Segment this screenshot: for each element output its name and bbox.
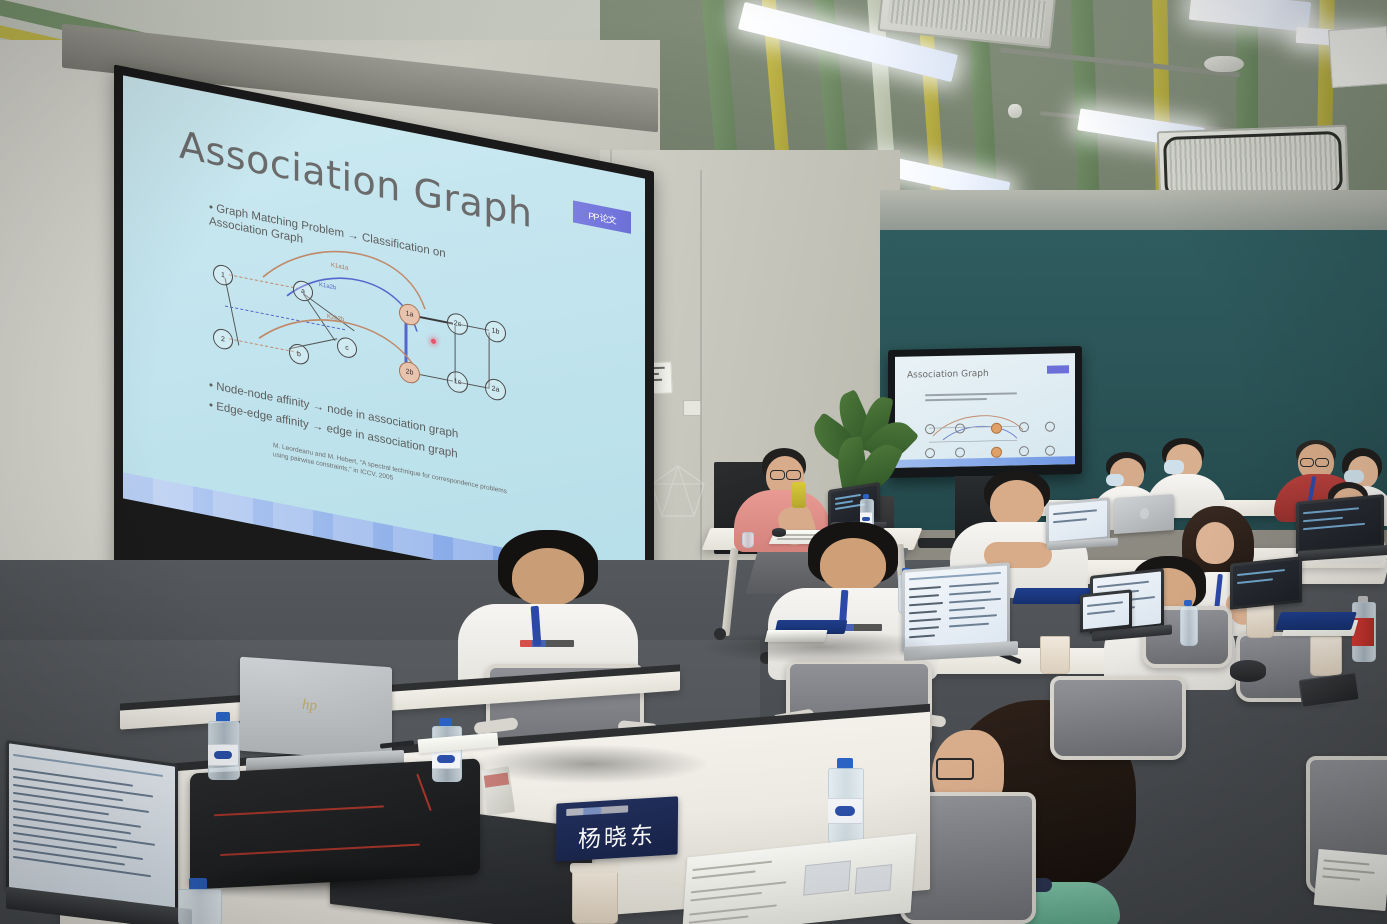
shadow-presenter-desk [700, 630, 940, 664]
front-mid-laptop [1080, 592, 1136, 638]
water-bottle-right-mid [1180, 600, 1196, 644]
hp-laptop: hp [240, 662, 400, 774]
shadow-backpack [180, 862, 480, 902]
photo-scene: Association Graph PP 论文 Graph Matching P… [0, 0, 1387, 924]
water-bottle-front-1 [208, 712, 238, 778]
coffee-cup-right-2 [1310, 636, 1342, 676]
tshirt-logo [520, 640, 574, 647]
wireless-mouse [1230, 660, 1266, 682]
wall-switch [683, 400, 701, 416]
handout-thumbnail-2 [855, 864, 893, 894]
document-right-edge [1314, 849, 1387, 911]
water-bottle-front-3 [828, 758, 862, 842]
spreadsheet-laptop [6, 752, 190, 924]
wall-seam-2 [700, 170, 702, 590]
coffee-cup-foreground [572, 866, 618, 924]
slide-citation: M. Leordeanu and M. Hebert, "A spectral … [273, 441, 523, 509]
right-laptop-2 [1296, 498, 1387, 560]
monitor-slide-logo [1047, 365, 1069, 373]
presenter-glasses [770, 470, 785, 480]
ceiling-panel-white [1328, 26, 1387, 88]
presenter-microphone [792, 482, 806, 508]
spreadsheet-screen [9, 743, 175, 910]
monitor-screen: Association Graph [895, 353, 1075, 468]
projected-slide: Association Graph PP 论文 Graph Matching P… [123, 75, 645, 601]
placard-logos [566, 805, 628, 816]
foreground-woman-glasses [936, 758, 974, 780]
shadow-chairs [470, 744, 710, 784]
name-placard: 杨晓东 [556, 796, 678, 862]
right-laptop-macbook-back [1114, 496, 1178, 538]
ceiling-smoke-detector [1008, 104, 1022, 118]
hp-logo: hp [302, 697, 317, 715]
handout-thumbnail [803, 860, 851, 895]
placard-name: 杨晓东 [556, 814, 678, 856]
right-laptop-3 [1046, 500, 1116, 550]
ceiling-speaker [1204, 56, 1244, 72]
monitor-footer-band [895, 456, 1075, 468]
right-laptop-far [1230, 560, 1308, 616]
monitor-slide-title: Association Graph [907, 369, 989, 381]
figure-marker-dot [431, 338, 436, 344]
slide-logo: PP 论文 [573, 200, 631, 233]
coffee-cup-center [1040, 636, 1070, 674]
presenter-desk-bottle-2 [742, 532, 752, 546]
presenter-glasses-right [786, 470, 801, 480]
